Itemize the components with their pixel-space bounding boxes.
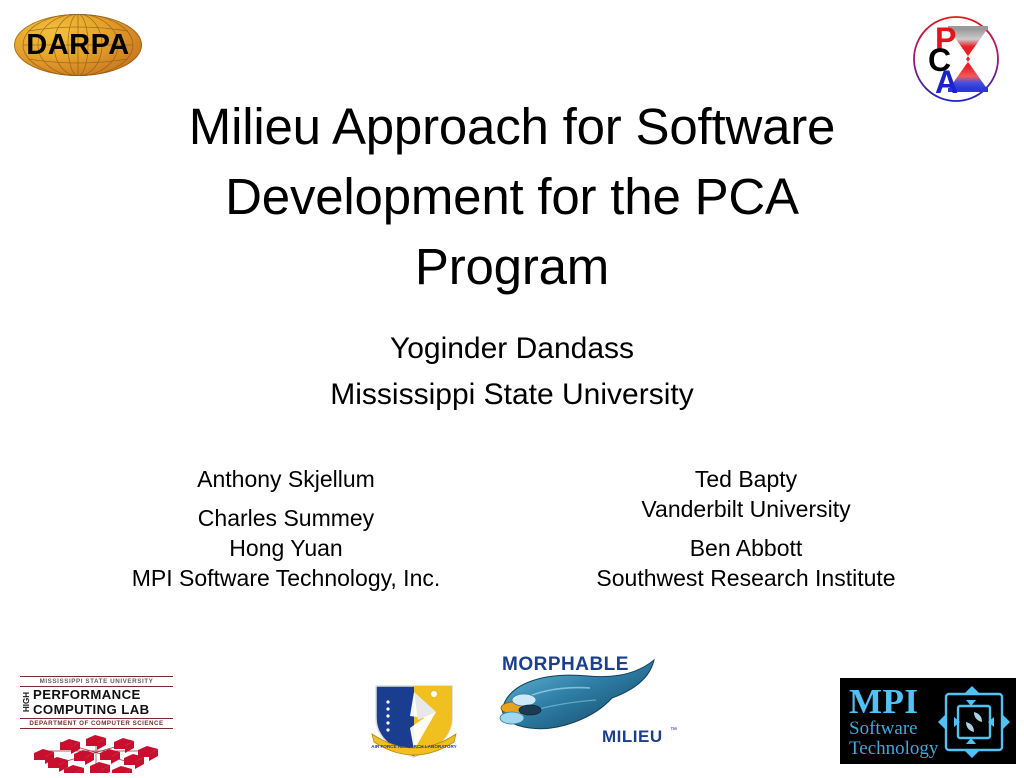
msu-main-lines: HIGH PERFORMANCE COMPUTING LAB	[20, 687, 173, 718]
pca-logo-icon: P C A	[908, 12, 1004, 106]
darpa-logo: DARPA	[14, 14, 142, 76]
author-name: Anthony Skjellum	[80, 464, 492, 494]
svg-text:A: A	[935, 64, 958, 100]
author-name: Ted Bapty	[536, 464, 956, 494]
presenter-block: Yoginder Dandass Mississippi State Unive…	[212, 326, 812, 418]
msu-cube-cluster	[20, 733, 175, 778]
msu-department-line: DEPARTMENT OF COMPUTER SCIENCE	[20, 719, 173, 728]
msu-rule-bottom	[20, 728, 173, 729]
red-cube-network-icon	[20, 733, 173, 773]
author-name: Charles Summey	[80, 503, 492, 533]
afrl-banner-text: AIR FORCE RESEARCH LABORATORY	[371, 744, 456, 749]
milieu-word-morphable: MORPHABLE	[502, 654, 629, 675]
mpi-software-technology-logo: MPI Software Technology	[840, 678, 1016, 764]
title-line-1: Milieu Approach for Software	[112, 92, 912, 162]
presenter-affiliation: Mississippi State University	[212, 372, 812, 418]
msu-performance-lines: PERFORMANCE COMPUTING LAB	[31, 688, 173, 717]
msu-line-computing-lab: COMPUTING LAB	[33, 703, 173, 718]
author-name: Hong Yuan	[80, 533, 492, 563]
mississippi-state-hpc-lab-logo: MISSISSIPPI STATE UNIVERSITY HIGH PERFOR…	[20, 676, 175, 764]
morphable-milieu-logo: MORPHABLE MILIEU ™	[484, 648, 684, 748]
slide-title: Milieu Approach for Software Development…	[112, 92, 912, 302]
milieu-word-milieu: MILIEU	[602, 727, 663, 746]
darpa-logo-text: DARPA	[14, 14, 142, 76]
afrl-shield-icon: AIR FORCE RESEARCH LABORATORY	[366, 678, 462, 764]
title-line-2: Development for the PCA	[112, 162, 912, 232]
milieu-trademark-symbol: ™	[670, 727, 677, 734]
pca-logo: P C A	[908, 12, 1004, 106]
air-force-research-laboratory-logo: AIR FORCE RESEARCH LABORATORY	[366, 678, 462, 764]
msu-line-performance: PERFORMANCE	[33, 688, 173, 703]
author-affiliation: Vanderbilt University	[536, 494, 956, 524]
morphable-milieu-icon: MORPHABLE MILIEU ™	[484, 648, 684, 748]
msu-wordmark: MISSISSIPPI STATE UNIVERSITY HIGH PERFOR…	[20, 676, 173, 729]
authors-right-column: Ted Bapty Vanderbilt University Ben Abbo…	[536, 464, 956, 593]
authors-left-column: Anthony Skjellum Charles Summey Hong Yua…	[80, 464, 492, 593]
mpi-logo-inner: MPI Software Technology	[840, 678, 1016, 764]
mpi-network-arrows-icon	[936, 682, 1012, 762]
author-affiliation: MPI Software Technology, Inc.	[80, 563, 492, 593]
author-affiliation: Southwest Research Institute	[536, 563, 956, 593]
msu-university-line: MISSISSIPPI STATE UNIVERSITY	[20, 677, 173, 686]
author-name: Ben Abbott	[536, 533, 956, 563]
presenter-name: Yoginder Dandass	[212, 326, 812, 372]
title-line-3: Program	[112, 232, 912, 302]
presentation-slide: DARPA	[0, 0, 1024, 768]
msu-high-vertical: HIGH	[22, 688, 31, 717]
